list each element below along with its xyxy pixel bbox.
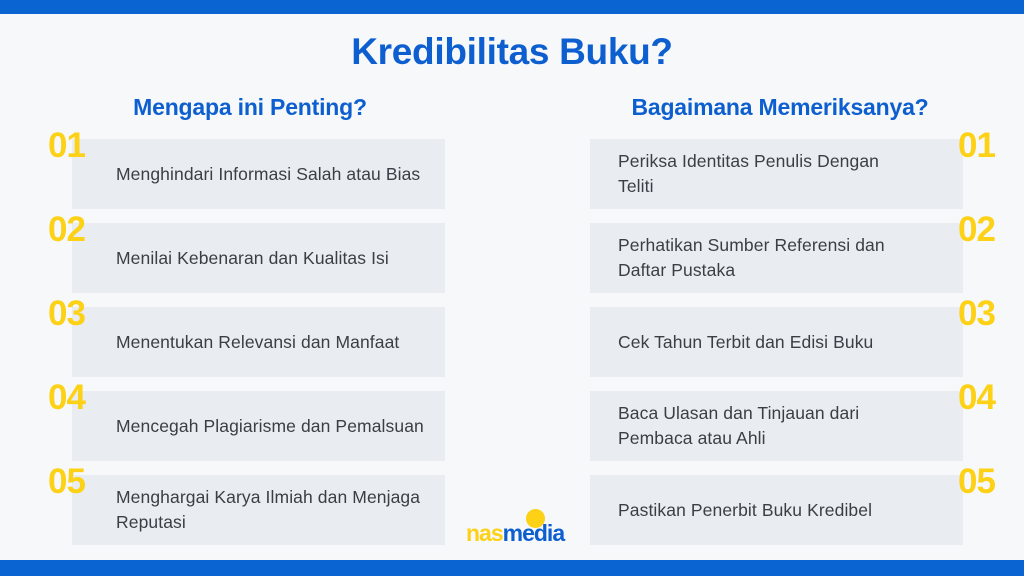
list-item-text: Menilai Kebenaran dan Kualitas Isi: [72, 246, 405, 271]
list-item-card: Mencegah Plagiarisme dan Pemalsuan: [72, 391, 445, 461]
list-item-card: Pastikan Penerbit Buku Kredibel: [590, 475, 963, 545]
list-item: Menghindari Informasi Salah atau Bias 01: [38, 139, 468, 209]
column-why: Menghindari Informasi Salah atau Bias 01…: [38, 139, 468, 559]
list-item: Periksa Identitas Penulis Dengan Teliti …: [556, 139, 986, 209]
list-item-card: Menghargai Karya Ilmiah dan Menjaga Repu…: [72, 475, 445, 545]
list-item: Pastikan Penerbit Buku Kredibel 05: [556, 475, 986, 545]
list-item-card: Baca Ulasan dan Tinjauan dari Pembaca at…: [590, 391, 963, 461]
list-item: Menghargai Karya Ilmiah dan Menjaga Repu…: [38, 475, 468, 545]
list-item-card: Menentukan Relevansi dan Manfaat: [72, 307, 445, 377]
list-item-number: 04: [958, 380, 995, 415]
logo-wordmark: nasmedia: [466, 522, 564, 545]
page-title: Kredibilitas Buku?: [0, 31, 1024, 73]
list-item-card: Cek Tahun Terbit dan Edisi Buku: [590, 307, 963, 377]
list-item: Menilai Kebenaran dan Kualitas Isi 02: [38, 223, 468, 293]
column-how: Periksa Identitas Penulis Dengan Teliti …: [556, 139, 986, 559]
list-item-text: Baca Ulasan dan Tinjauan dari Pembaca at…: [590, 401, 963, 451]
list-item-number: 03: [48, 296, 85, 331]
list-item-text: Pastikan Penerbit Buku Kredibel: [590, 498, 932, 523]
list-item-text: Menghindari Informasi Salah atau Bias: [72, 162, 436, 187]
list-item-card: Menilai Kebenaran dan Kualitas Isi: [72, 223, 445, 293]
infographic-slide: Kredibilitas Buku? Mengapa ini Penting? …: [0, 0, 1024, 576]
list-item-number: 01: [48, 128, 85, 163]
list-item-number: 04: [48, 380, 85, 415]
list-item-number: 02: [48, 212, 85, 247]
list-item-card: Menghindari Informasi Salah atau Bias: [72, 139, 445, 209]
nasmedia-logo: nasmedia: [466, 509, 562, 545]
list-item-text: Menentukan Relevansi dan Manfaat: [72, 330, 415, 355]
list-item-text: Menghargai Karya Ilmiah dan Menjaga Repu…: [72, 485, 445, 535]
column-heading-how: Bagaimana Memeriksanya?: [575, 94, 985, 121]
list-item: Perhatikan Sumber Referensi dan Daftar P…: [556, 223, 986, 293]
list-item-text: Cek Tahun Terbit dan Edisi Buku: [590, 330, 933, 355]
list-item-text: Perhatikan Sumber Referensi dan Daftar P…: [590, 233, 963, 283]
list-item-number: 05: [958, 464, 995, 499]
list-item-number: 02: [958, 212, 995, 247]
list-item: Mencegah Plagiarisme dan Pemalsuan 04: [38, 391, 468, 461]
list-item-card: Periksa Identitas Penulis Dengan Teliti: [590, 139, 963, 209]
list-item-card: Perhatikan Sumber Referensi dan Daftar P…: [590, 223, 963, 293]
list-item-number: 01: [958, 128, 995, 163]
bottom-accent-bar: [0, 560, 1024, 576]
logo-text-media: media: [503, 520, 564, 546]
list-item-number: 05: [48, 464, 85, 499]
top-accent-bar: [0, 0, 1024, 14]
list-item-number: 03: [958, 296, 995, 331]
column-heading-why: Mengapa ini Penting?: [45, 94, 455, 121]
list-item-text: Periksa Identitas Penulis Dengan Teliti: [590, 149, 963, 199]
list-item: Cek Tahun Terbit dan Edisi Buku 03: [556, 307, 986, 377]
list-item: Menentukan Relevansi dan Manfaat 03: [38, 307, 468, 377]
list-item: Baca Ulasan dan Tinjauan dari Pembaca at…: [556, 391, 986, 461]
list-item-text: Mencegah Plagiarisme dan Pemalsuan: [72, 414, 440, 439]
logo-text-nas: nas: [466, 520, 503, 546]
